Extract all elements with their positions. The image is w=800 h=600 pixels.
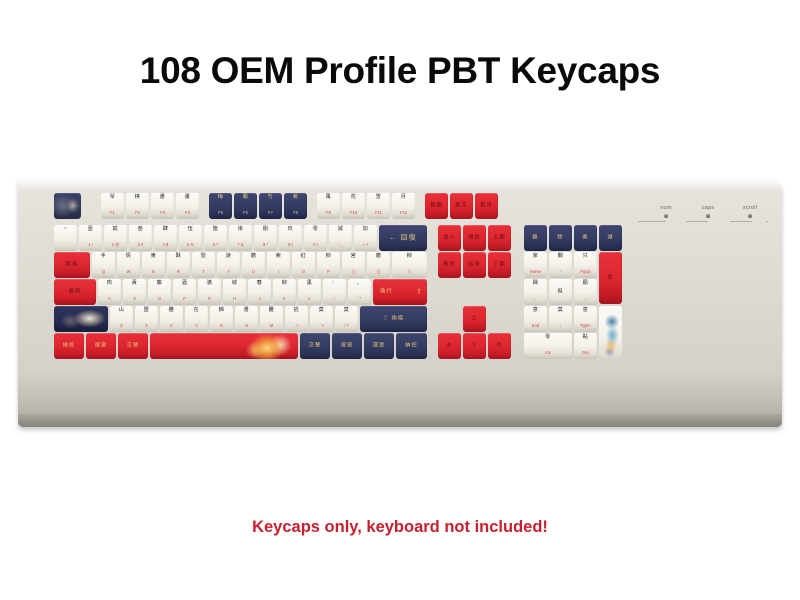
keycap-delete[interactable]: 刪除	[438, 252, 461, 278]
keycap-legend: 叁	[129, 227, 152, 232]
keycap-legend: 月	[392, 195, 415, 200]
keycap-sublegend: 0 )	[304, 243, 327, 247]
keycap-sublegend: , <	[285, 324, 308, 328]
keycap-sublegend: F4	[176, 211, 199, 215]
keycap-semicolon[interactable]: ：; :	[323, 279, 346, 305]
keycap-sublegend: I	[267, 270, 290, 274]
keycap-legend: 肉	[98, 281, 121, 286]
keycap-legend: 家	[524, 254, 547, 259]
keycap-legend: 棋	[126, 195, 149, 200]
keycap-sublegend: B	[210, 324, 233, 328]
keycap-sublegend: ] }	[367, 270, 390, 274]
keycap-lalt[interactable]: 交替	[118, 333, 148, 359]
keycap-sublegend: 6 ^	[204, 243, 227, 247]
keycap-legend: 、	[348, 281, 371, 286]
keycap-legend: 下	[463, 343, 486, 348]
keyboard-product-photo: 琴F1棋F2書F3畫F4梅F5蘭F6竹F7菊F8風F9花F10雪F11月F12截…	[18, 177, 782, 427]
keycap-sublegend: Del	[574, 351, 597, 355]
keycap-sublegend: R	[167, 270, 190, 274]
keycap-equal[interactable]: 加= +	[354, 225, 377, 251]
keycap-sublegend: ' "	[348, 297, 371, 301]
keycap-h[interactable]: 城H	[223, 279, 246, 305]
keycap-ralt[interactable]: 交替	[300, 333, 330, 359]
indicator-line-mid2	[730, 221, 752, 222]
keycap-f1[interactable]: 琴F1	[101, 193, 124, 219]
keycap-surface	[150, 333, 298, 359]
keycap-f4[interactable]: 畫F4	[176, 193, 199, 219]
keycap-np4[interactable]: 歸←	[524, 279, 547, 305]
keycap-legend: ~	[54, 227, 77, 232]
keycap-sublegend: ; :	[323, 297, 346, 301]
keycap-legend: 紅	[292, 254, 315, 259]
keycap-legend: 換行	[380, 289, 393, 294]
caps-lock-led-icon	[706, 214, 710, 218]
keycap-sublegend: F9	[317, 211, 340, 215]
keycap-legend: 除	[549, 235, 572, 240]
keycap-legend: 交替	[300, 343, 330, 348]
keycap-sublegend: D	[148, 297, 171, 301]
keycap-d9[interactable]: 玖9 (	[279, 225, 302, 251]
enter-arrow-icon: ⇧	[416, 289, 422, 296]
keycap-f9[interactable]: 風F9	[317, 193, 340, 219]
keycap-sublegend: - _	[329, 243, 352, 247]
keycap-legend: 莫	[549, 308, 572, 313]
keycap-legend: 錦	[210, 308, 233, 313]
keycap-u[interactable]: 牆U	[242, 252, 265, 278]
keycap-backspace[interactable]: ← 回復	[379, 225, 427, 251]
keycap-legend: 伍	[179, 227, 202, 232]
keycap-legend: 鎖固	[54, 289, 96, 294]
keycap-legend: 納控	[396, 343, 427, 348]
keycap-legend: 結束	[463, 262, 486, 267]
keycap-d4[interactable]: 肆4 $	[154, 225, 177, 251]
keycap-esc[interactable]	[54, 193, 81, 219]
keycap-sublegend: 1 !	[79, 243, 102, 247]
indicator-line-right	[766, 221, 768, 222]
backspace-arrow-icon: ← 回復	[379, 235, 427, 242]
keycap-legend: 畫	[176, 195, 199, 200]
keycap-sublegend: F10	[342, 211, 365, 215]
keycap-sublegend: 2 @	[104, 243, 127, 247]
product-title: 108 OEM Profile PBT Keycaps	[0, 50, 800, 92]
keycap-legend: 加	[599, 275, 622, 280]
keycap-i[interactable]: 索I	[267, 252, 290, 278]
keycap-sublegend: U	[242, 270, 265, 274]
keycap-sublegend: Q	[92, 270, 115, 274]
keycap-np0[interactable]: 零Ins	[524, 333, 572, 359]
keyboard-case: 琴F1棋F2書F3畫F4梅F5蘭F6竹F7菊F8風F9花F10雪F11月F12截…	[18, 177, 782, 427]
disclaimer-text: Keycaps only, keyboard not included!	[0, 518, 800, 537]
keycap-legend: 書	[235, 308, 258, 313]
keycap-f10[interactable]: 花F10	[342, 193, 365, 219]
keycap-g[interactable]: 滿G	[198, 279, 221, 305]
keycap-sublegend: `	[54, 243, 77, 247]
keycap-v[interactable]: 在V	[185, 306, 208, 332]
keycap-c[interactable]: 雖C	[160, 306, 183, 332]
keycap-legend: 上翻	[488, 235, 511, 240]
keycap-m[interactable]: 難M	[260, 306, 283, 332]
keycap-legend: 視窗	[86, 343, 116, 348]
keycap-legend: 但	[549, 289, 572, 294]
keycap-sublegend: F6	[234, 211, 257, 215]
keycap-comma[interactable]: 託, <	[285, 306, 308, 332]
keycap-x[interactable]: 盟X	[135, 306, 158, 332]
keycap-f[interactable]: 酒F	[173, 279, 196, 305]
keycap-insert[interactable]: 插入	[438, 225, 461, 251]
keycap-sublegend: Z	[110, 324, 133, 328]
keycap-np8[interactable]: 關↑	[549, 252, 572, 278]
indicator-num-label: num	[646, 205, 686, 211]
keycap-l[interactable]: 黑L	[298, 279, 321, 305]
keycap-d1[interactable]: 壹1 !	[79, 225, 102, 251]
keycap-t[interactable]: 愁T	[192, 252, 215, 278]
keycap-legend: 雪	[367, 195, 390, 200]
keycap-z[interactable]: 山Z	[110, 306, 133, 332]
keycap-d0[interactable]: 零0 )	[304, 225, 327, 251]
keycap-legend: 手	[92, 254, 115, 259]
keycap-sublegend: L	[298, 297, 321, 301]
keycap-sublegend: T	[192, 270, 215, 274]
keycap-sublegend: S	[123, 297, 146, 301]
keycap-np6[interactable]: 願→	[574, 279, 597, 305]
keycap-legend: 歸	[524, 281, 547, 286]
keycap-legend: 減	[329, 227, 352, 232]
keycap-grave[interactable]: ~`	[54, 225, 77, 251]
indicator-scroll-label: scroll	[730, 205, 770, 211]
indicator-caps: caps	[688, 205, 728, 218]
keycap-legend: 蘭	[234, 195, 257, 200]
keycap-legend: ：	[323, 281, 346, 286]
keycap-rbracket[interactable]: 牆] }	[367, 252, 390, 278]
keycap-np1[interactable]: 意End	[524, 306, 547, 332]
keycap-lshift[interactable]	[54, 306, 108, 332]
keycap-legend: 鎖定	[450, 203, 473, 208]
keycap-f8[interactable]: 菊F8	[284, 193, 307, 219]
keycap-rctrl[interactable]: 納控	[396, 333, 427, 359]
keycap-sublegend: ↓	[549, 324, 572, 328]
keycap-legend: 黑	[298, 281, 321, 286]
keycap-sublegend: PgDn	[574, 324, 597, 328]
keycap-end[interactable]: 結束	[463, 252, 486, 278]
keycap-legend: 柳	[317, 254, 340, 259]
keycap-legend: 捌	[254, 227, 277, 232]
keycap-legend: 在	[185, 308, 208, 313]
keycap-sublegend: / ?	[335, 324, 358, 328]
keycap-sublegend: W	[117, 270, 140, 274]
keycap-sublegend: 3 #	[129, 243, 152, 247]
keycap-sublegend: 5 %	[179, 243, 202, 247]
keycap-legend: 宮	[342, 254, 365, 259]
keycap-d3[interactable]: 叁3 #	[129, 225, 152, 251]
keycap-sublegend: C	[160, 324, 183, 328]
keycap-legend: 琴	[101, 195, 124, 200]
scroll-lock-led-icon	[748, 214, 752, 218]
keycap-legend: 意	[524, 308, 547, 313]
keycap-npenter[interactable]	[599, 306, 622, 358]
keycap-legend: 索	[267, 254, 290, 259]
keycap-legend: 願	[574, 281, 597, 286]
keycap-right[interactable]: 右	[488, 333, 511, 359]
keycap-lwin[interactable]: 視窗	[86, 333, 116, 359]
keycap-legend: 東	[142, 254, 165, 259]
keycap-sublegend: E	[142, 270, 165, 274]
keycap-menu[interactable]: 選單	[364, 333, 394, 359]
keycap-legend: 玖	[279, 227, 302, 232]
keycap-legend: 黃	[123, 281, 146, 286]
keycap-n[interactable]: 書N	[235, 306, 258, 332]
num-lock-led-icon	[664, 214, 668, 218]
keycap-legend: 託	[285, 308, 308, 313]
keycap-sublegend: Home	[524, 270, 547, 274]
keycap-legend: 上	[463, 316, 486, 321]
keycap-legend: 竹	[259, 195, 282, 200]
keycap-d7[interactable]: 柒7 &	[229, 225, 252, 251]
keycap-legend: 截圖	[425, 203, 448, 208]
keycap-sublegend: P	[317, 270, 340, 274]
keycap-legend: 減	[599, 235, 622, 240]
keycap-legend: 盟	[135, 308, 158, 313]
keycap-npadd[interactable]: 加	[599, 252, 622, 304]
keycap-legend: 牆	[242, 254, 265, 259]
indicator-panel: num caps scroll	[638, 205, 768, 235]
keycap-sublegend: F11	[367, 211, 390, 215]
keycap-rwin[interactable]: 視窗	[332, 333, 362, 359]
keycap-sublegend: F	[173, 297, 196, 301]
keycap-sublegend: F1	[101, 211, 124, 215]
keycap-left[interactable]: 左	[438, 333, 461, 359]
indicator-line-mid1	[686, 221, 708, 222]
keycap-sublegend: \ |	[392, 270, 427, 274]
keycap-caps[interactable]: 鎖固	[54, 279, 96, 305]
keycap-lctrl[interactable]: 納控	[54, 333, 84, 359]
keycap-f6[interactable]: 蘭F6	[234, 193, 257, 219]
keycap-d[interactable]: 藤D	[148, 279, 171, 305]
keycap-sublegend: [ {	[342, 270, 365, 274]
keycap-f3[interactable]: 書F3	[151, 193, 174, 219]
keycap-up[interactable]: 上	[463, 306, 486, 332]
keycap-tab[interactable]: 跳格	[54, 252, 90, 278]
indicator-line-left	[638, 221, 666, 222]
keycap-o[interactable]: 紅O	[292, 252, 315, 278]
keycap-sublegend: G	[198, 297, 221, 301]
keycap-legend: 下翻	[488, 262, 511, 267]
keycap-legend: 牆	[367, 254, 390, 259]
keycap-legend: 插入	[438, 235, 461, 240]
keycap-npsub[interactable]: 減	[599, 225, 622, 251]
keycap-k[interactable]: 柳K	[273, 279, 296, 305]
keycap-enter[interactable]: 換行⇧	[373, 279, 427, 305]
keycap-numlock[interactable]: 鎖	[524, 225, 547, 251]
keycap-legend: 愁	[192, 254, 215, 259]
keycap-legend: 雖	[160, 308, 183, 313]
keycap-pgup[interactable]: 上翻	[488, 225, 511, 251]
keycap-prtsc[interactable]: 截圖	[425, 193, 448, 219]
keycap-legend: 春	[248, 281, 271, 286]
keycap-sublegend: F5	[209, 211, 232, 215]
keycap-a[interactable]: 肉A	[98, 279, 121, 305]
keycap-sublegend: 4 $	[154, 243, 177, 247]
keycap-home[interactable]: 開始	[463, 225, 486, 251]
keycap-legend: 視窗	[332, 343, 362, 348]
keycap-slash[interactable]: 莫/ ?	[335, 306, 358, 332]
keycap-pause[interactable]: 暫停	[475, 193, 498, 219]
keycap-legend: 肆	[154, 227, 177, 232]
keycap-sublegend: PgUp	[574, 270, 597, 274]
keycap-sclk[interactable]: 鎖定	[450, 193, 473, 219]
keycap-sublegend: A	[98, 297, 121, 301]
keycap-sublegend: ←	[524, 297, 547, 301]
keycap-legend: 滿	[198, 281, 221, 286]
keycap-sublegend: N	[235, 324, 258, 328]
keycap-legend: 柒	[229, 227, 252, 232]
keycap-sublegend: F8	[284, 211, 307, 215]
keycap-down[interactable]: 下	[463, 333, 486, 359]
keycap-sublegend: 8 *	[254, 243, 277, 247]
keycap-d5[interactable]: 伍5 %	[179, 225, 202, 251]
indicator-num: num	[646, 205, 686, 218]
keycap-legend: 點	[574, 335, 597, 340]
keycap-legend: 跳格	[54, 262, 90, 267]
keycap-sublegend: 9 (	[279, 243, 302, 247]
keycap-sublegend: H	[223, 297, 246, 301]
keycap-sublegend: Y	[217, 270, 240, 274]
keycap-np9[interactable]: 只PgUp	[574, 252, 597, 278]
keycap-legend: 零	[304, 227, 327, 232]
keycap-quote[interactable]: 、' "	[348, 279, 371, 305]
keycap-legend: 暫停	[475, 203, 498, 208]
keycap-legend: 藤	[148, 281, 171, 286]
keycap-sublegend: . >	[310, 324, 333, 328]
keycap-legend: 書	[151, 195, 174, 200]
keycap-legend: 柳	[273, 281, 296, 286]
keycap-npdot[interactable]: 點Del	[574, 333, 597, 359]
keycap-legend: 右	[488, 343, 511, 348]
indicator-caps-label: caps	[688, 205, 728, 211]
keycap-p[interactable]: 柳P	[317, 252, 340, 278]
keycap-lbracket[interactable]: 宮[ {	[342, 252, 365, 278]
keycap-legend: 關	[549, 254, 572, 259]
keycap-space[interactable]	[150, 333, 298, 359]
keycap-surface	[54, 193, 81, 219]
case-top-gloss	[18, 177, 782, 191]
keycap-legend: 加	[354, 227, 377, 232]
keycap-sublegend: F7	[259, 211, 282, 215]
keycap-npdiv[interactable]: 除	[549, 225, 572, 251]
keycap-surface	[599, 306, 622, 358]
keycap-legend: 風	[317, 195, 340, 200]
keycap-surface	[54, 306, 108, 332]
keycap-legend: 意	[574, 308, 597, 313]
keycap-legend: 貳	[104, 227, 127, 232]
keycap-legend: 酥	[167, 254, 190, 259]
keycap-sublegend: O	[292, 270, 315, 274]
keycap-legend: 淚	[217, 254, 240, 259]
keycap-np3[interactable]: 意PgDn	[574, 306, 597, 332]
keycap-sublegend: F3	[151, 211, 174, 215]
keycap-sublegend: X	[135, 324, 158, 328]
keycap-legend: 酒	[173, 281, 196, 286]
keycap-legend: 情	[117, 254, 140, 259]
keycap-legend: 城	[223, 281, 246, 286]
keycap-j[interactable]: 春J	[248, 279, 271, 305]
keycap-sublegend: K	[273, 297, 296, 301]
keycap-sublegend: ↑	[549, 270, 572, 274]
keycap-legend: 只	[574, 254, 597, 259]
keycap-r[interactable]: 酥R	[167, 252, 190, 278]
keycap-legend: 納控	[54, 343, 84, 348]
keycap-backslash[interactable]: 柳\ |	[392, 252, 427, 278]
keycap-legend: 莫	[310, 308, 333, 313]
keycap-np5[interactable]: 但	[549, 279, 572, 305]
keycap-sublegend: = +	[354, 243, 377, 247]
keycap-f5[interactable]: 梅F5	[209, 193, 232, 219]
keycap-legend: 刪除	[438, 262, 461, 267]
keycap-legend: 乘	[574, 235, 597, 240]
keycap-rshift[interactable]: ⇧ 換檔	[360, 306, 427, 332]
keycap-legend: 零	[524, 335, 572, 340]
keycap-np2[interactable]: 莫↓	[549, 306, 572, 332]
keycap-legend: 左	[438, 343, 461, 348]
case-bottom-lip	[18, 414, 782, 427]
keycap-d2[interactable]: 貳2 @	[104, 225, 127, 251]
keycap-legend: 柳	[392, 254, 427, 259]
keycap-d8[interactable]: 捌8 *	[254, 225, 277, 251]
keycap-legend: 山	[110, 308, 133, 313]
keycap-pgdn[interactable]: 下翻	[488, 252, 511, 278]
keycap-q[interactable]: 手Q	[92, 252, 115, 278]
keycap-sublegend: F12	[392, 211, 415, 215]
keycap-legend: 選單	[364, 343, 394, 348]
keycap-legend: 陸	[204, 227, 227, 232]
keycap-sublegend: →	[574, 297, 597, 301]
keycap-w[interactable]: 情W	[117, 252, 140, 278]
keycap-sublegend: Ins	[524, 351, 572, 355]
keycap-sublegend: End	[524, 324, 547, 328]
keycap-legend: 鎖	[524, 235, 547, 240]
keycap-npmul[interactable]: 乘	[574, 225, 597, 251]
keycap-np7[interactable]: 家Home	[524, 252, 547, 278]
keycap-period[interactable]: 莫. >	[310, 306, 333, 332]
keycap-s[interactable]: 黃S	[123, 279, 146, 305]
keycap-legend: 開始	[463, 235, 486, 240]
keycap-b[interactable]: 錦B	[210, 306, 233, 332]
keycap-legend: 交替	[118, 343, 148, 348]
keycap-legend: 莫	[335, 308, 358, 313]
keycap-d6[interactable]: 陸6 ^	[204, 225, 227, 251]
keycap-legend: 菊	[284, 195, 307, 200]
indicator-scroll: scroll	[730, 205, 770, 218]
keycap-y[interactable]: 淚Y	[217, 252, 240, 278]
keycap-sublegend: J	[248, 297, 271, 301]
keycap-f11[interactable]: 雪F11	[367, 193, 390, 219]
keycap-f7[interactable]: 竹F7	[259, 193, 282, 219]
keycap-sublegend: M	[260, 324, 283, 328]
keycap-sublegend: 7 &	[229, 243, 252, 247]
keycap-legend: 花	[342, 195, 365, 200]
keycap-legend: 難	[260, 308, 283, 313]
keycap-legend: ⇧ 換檔	[360, 316, 427, 321]
keycap-sublegend: V	[185, 324, 208, 328]
keycap-legend: 梅	[209, 195, 232, 200]
keycap-legend: 壹	[79, 227, 102, 232]
keycap-f12[interactable]: 月F12	[392, 193, 415, 219]
keycap-f2[interactable]: 棋F2	[126, 193, 149, 219]
keycap-e[interactable]: 東E	[142, 252, 165, 278]
keycap-sublegend: F2	[126, 211, 149, 215]
keycap-minus[interactable]: 減- _	[329, 225, 352, 251]
